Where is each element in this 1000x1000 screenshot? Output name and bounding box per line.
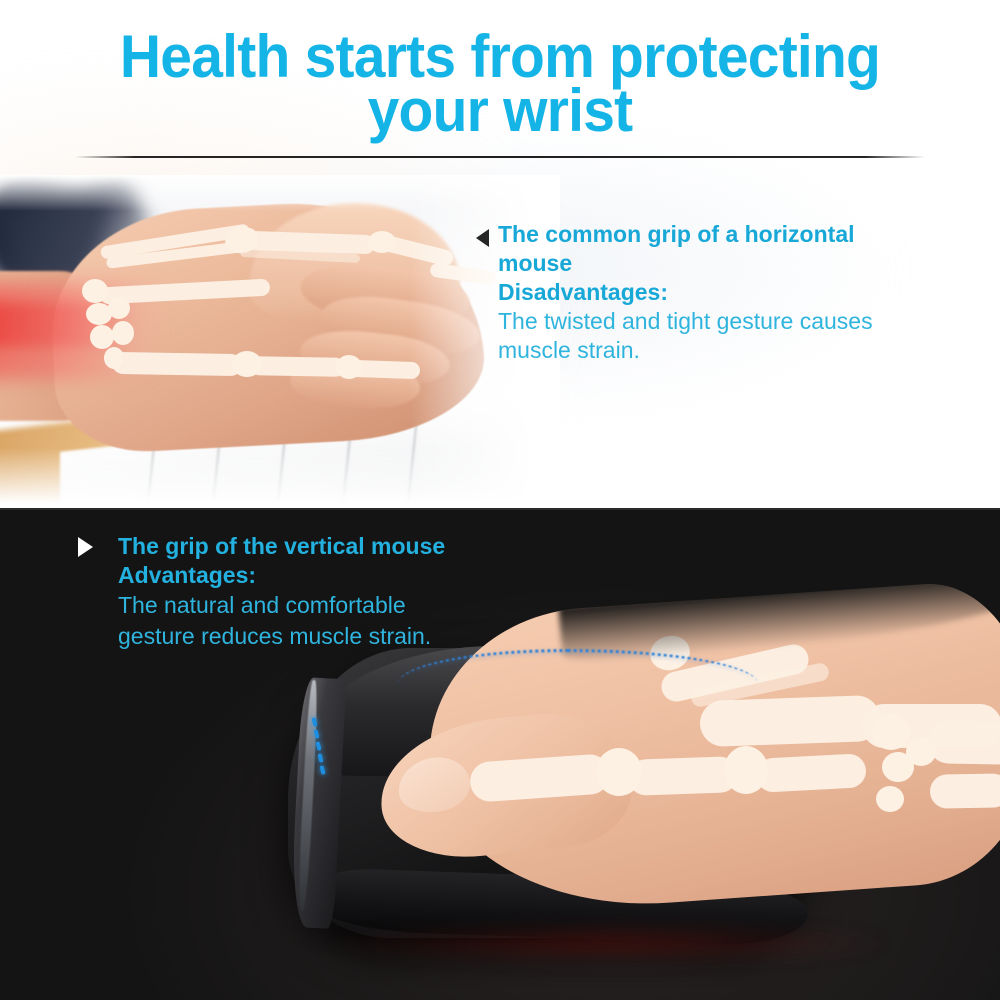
page-title: Health starts from protecting your wrist xyxy=(25,30,975,138)
advantages-label: Advantages: xyxy=(118,561,538,590)
horizontal-mouse-caption: The common grip of a horizontal mouse Di… xyxy=(498,220,928,365)
triangle-left-icon xyxy=(476,229,489,247)
horizontal-grip-body: The twisted and tight gesture causes mus… xyxy=(498,307,928,365)
vertical-grip-body: The natural and comfortable gesture redu… xyxy=(118,590,538,652)
horizontal-mouse-photo xyxy=(0,175,560,508)
horizontal-grip-heading: The common grip of a horizontal mouse xyxy=(498,220,928,278)
bottom-section-panel: The grip of the vertical mouse Advantage… xyxy=(0,508,1000,1000)
vertical-mouse-caption: The grip of the vertical mouse Advantage… xyxy=(118,532,538,652)
disadvantages-label: Disadvantages: xyxy=(498,278,928,307)
product-infographic: Health starts from protecting your wrist… xyxy=(0,0,1000,1000)
top-section-panel: Health starts from protecting your wrist… xyxy=(0,0,1000,508)
title-divider xyxy=(75,156,925,158)
triangle-right-icon xyxy=(78,537,93,557)
vertical-grip-heading: The grip of the vertical mouse xyxy=(118,532,538,561)
